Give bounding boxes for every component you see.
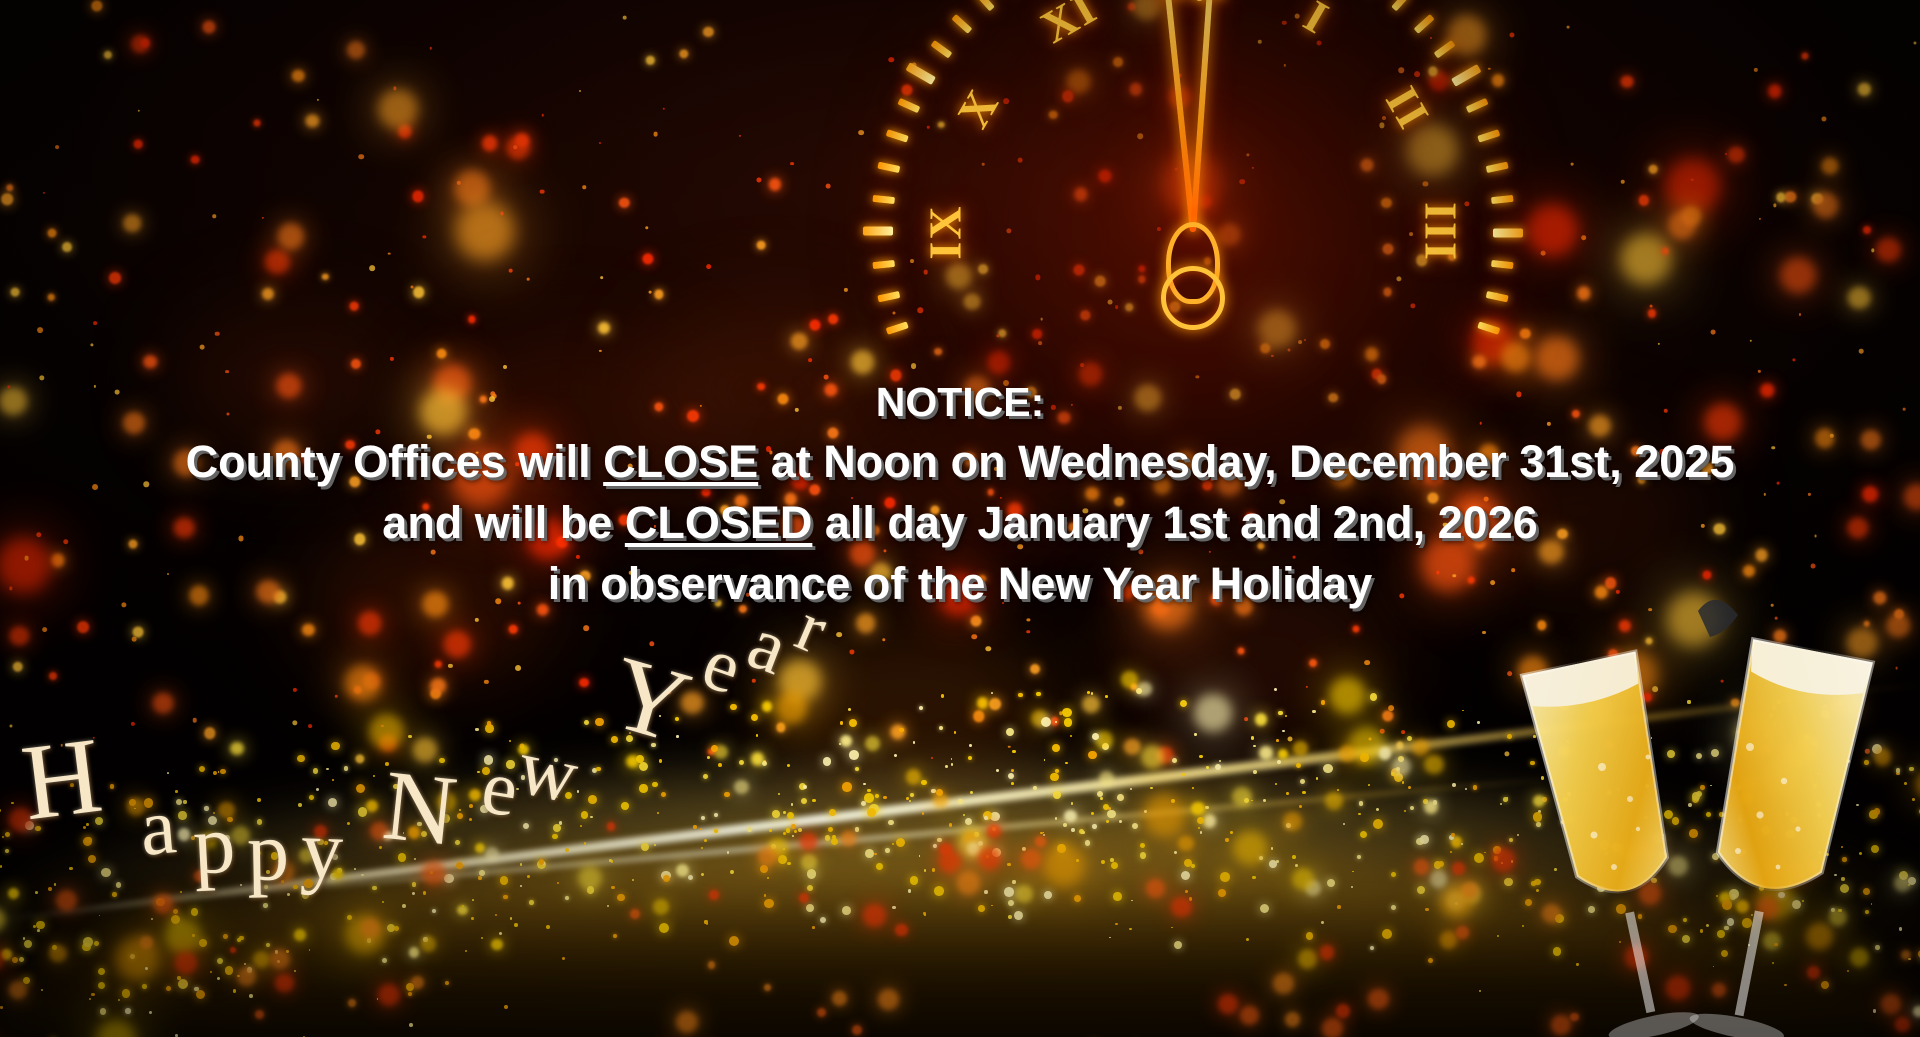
bokeh-dot xyxy=(1775,617,1778,620)
bokeh-dot xyxy=(870,526,879,535)
bokeh-dot xyxy=(642,254,653,265)
bokeh-dot xyxy=(1,194,13,206)
bokeh-dot xyxy=(1904,484,1920,510)
bokeh-dot xyxy=(1903,408,1906,411)
bokeh-dot xyxy=(1754,68,1758,72)
bokeh-dot xyxy=(1309,660,1317,668)
bokeh-dot xyxy=(1806,656,1815,665)
bokeh-dot xyxy=(649,291,652,294)
bokeh-dot xyxy=(1464,201,1469,206)
bokeh-dot xyxy=(1082,695,1100,713)
bokeh-dot xyxy=(429,47,431,49)
bokeh-dot xyxy=(629,570,634,575)
bokeh-dot xyxy=(923,270,928,275)
bokeh-dot xyxy=(455,202,514,261)
bokeh-dot xyxy=(1777,481,1780,484)
bokeh-dot xyxy=(215,331,220,336)
bokeh-dot xyxy=(1026,387,1037,398)
bokeh-dot xyxy=(1779,747,1799,767)
bokeh-dot xyxy=(174,517,194,537)
bokeh-dot xyxy=(1000,497,1002,499)
bokeh-dot xyxy=(278,477,281,480)
bokeh-dot xyxy=(332,472,335,475)
bokeh-dot xyxy=(1423,182,1428,187)
bokeh-dot xyxy=(576,555,580,559)
bokeh-dot xyxy=(1244,717,1248,721)
bokeh-dot xyxy=(317,98,319,100)
bokeh-dot xyxy=(883,549,886,552)
bokeh-dot xyxy=(1377,374,1387,384)
bokeh-dot xyxy=(24,556,29,561)
bokeh-dot xyxy=(1847,517,1868,538)
bokeh-dot xyxy=(1306,686,1308,688)
bokeh-dot xyxy=(1479,444,1499,464)
bokeh-dot xyxy=(1768,85,1781,98)
bokeh-dot xyxy=(580,571,591,582)
bokeh-dot xyxy=(1157,747,1174,764)
bokeh-dot xyxy=(1518,656,1548,686)
bokeh-dot xyxy=(1490,580,1496,586)
bokeh-dot xyxy=(739,135,741,137)
bokeh-dot xyxy=(843,288,847,292)
bokeh-dot xyxy=(1701,462,1713,474)
bokeh-dot xyxy=(121,603,126,608)
bokeh-dot xyxy=(1863,226,1871,234)
bokeh-dot xyxy=(110,272,122,284)
bokeh-dot xyxy=(910,259,914,263)
bokeh-dot xyxy=(90,344,93,347)
bokeh-dot xyxy=(1725,153,1727,155)
bokeh-dot xyxy=(378,89,418,129)
bokeh-dot xyxy=(1317,41,1322,46)
bokeh-dot xyxy=(452,448,511,507)
bokeh-dot xyxy=(1157,226,1161,230)
bokeh-dot xyxy=(1210,592,1223,605)
bokeh-dot xyxy=(792,473,809,490)
bokeh-dot xyxy=(1382,116,1386,120)
bokeh-dot xyxy=(914,396,917,399)
bokeh-dot xyxy=(369,265,375,271)
bokeh-dot xyxy=(890,724,905,739)
bokeh-dot xyxy=(645,226,648,229)
bokeh-dot xyxy=(988,351,1010,373)
bokeh-dot xyxy=(1353,625,1360,632)
bokeh-dot xyxy=(1130,83,1142,95)
bokeh-dot xyxy=(934,348,942,356)
bokeh-dot xyxy=(902,84,913,95)
bokeh-dot xyxy=(1776,193,1785,202)
bokeh-dot xyxy=(62,242,72,252)
bokeh-dot xyxy=(579,678,589,688)
bokeh-dot xyxy=(138,109,140,111)
bokeh-dot xyxy=(436,348,447,359)
bokeh-dot xyxy=(890,370,901,381)
bokeh-dot xyxy=(225,370,229,374)
bokeh-dot xyxy=(1287,736,1292,741)
bokeh-dot xyxy=(1701,523,1705,527)
bokeh-dot xyxy=(1535,336,1579,380)
bokeh-dot xyxy=(619,515,630,526)
bokeh-dot xyxy=(972,634,977,639)
bokeh-dot xyxy=(495,598,501,604)
bokeh-dot xyxy=(1871,249,1874,252)
bokeh-dot xyxy=(985,646,990,651)
bokeh-dot xyxy=(1202,480,1211,489)
bokeh-dot xyxy=(1799,313,1801,315)
bokeh-dot xyxy=(1668,212,1695,239)
bokeh-dot xyxy=(1199,528,1204,533)
bokeh-dot xyxy=(1298,340,1302,344)
bokeh-dot xyxy=(375,429,380,434)
bokeh-dot xyxy=(226,413,229,416)
bokeh-dot xyxy=(469,428,480,439)
bokeh-dot xyxy=(1815,428,1834,447)
bokeh-dot xyxy=(1763,745,1772,754)
bokeh-dot xyxy=(253,120,260,127)
bokeh-dot xyxy=(1008,746,1011,749)
bokeh-dot xyxy=(720,505,730,515)
bokeh-dot xyxy=(265,250,289,274)
bokeh-dot xyxy=(849,649,854,654)
bokeh-dot xyxy=(1138,549,1143,554)
bokeh-dot xyxy=(1032,329,1042,339)
bokeh-dot xyxy=(1771,446,1775,450)
bokeh-dot xyxy=(454,170,490,206)
bokeh-dot xyxy=(1639,195,1649,205)
bokeh-dot xyxy=(1810,563,1815,568)
bokeh-dot xyxy=(1847,627,1877,657)
bokeh-dot xyxy=(1631,446,1641,456)
bokeh-dot xyxy=(1472,355,1486,369)
bokeh-dot xyxy=(1003,98,1009,104)
bokeh-dot xyxy=(1138,276,1145,283)
bokeh-dot xyxy=(1537,621,1546,630)
bokeh-dot xyxy=(193,718,198,723)
bokeh-dot xyxy=(355,754,364,763)
bokeh-dot xyxy=(379,735,396,752)
bokeh-dot xyxy=(1511,568,1515,572)
bokeh-dot xyxy=(1208,551,1210,553)
bokeh-dot xyxy=(1772,705,1777,710)
bokeh-dot xyxy=(1083,508,1088,513)
bokeh-dot xyxy=(1218,223,1241,246)
bokeh-dot xyxy=(518,602,521,605)
bokeh-dot xyxy=(1606,741,1614,749)
bokeh-dot xyxy=(1660,449,1666,455)
bokeh-particles-top xyxy=(0,0,1920,1037)
bokeh-dot xyxy=(978,575,986,583)
bokeh-dot xyxy=(503,365,507,369)
bokeh-dot xyxy=(292,70,304,82)
bokeh-dot xyxy=(1204,258,1212,266)
bokeh-dot xyxy=(1065,522,1068,525)
bokeh-dot xyxy=(1210,478,1214,482)
bokeh-dot xyxy=(1570,163,1573,166)
bokeh-dot xyxy=(1588,415,1610,437)
bokeh-dot xyxy=(1765,734,1769,738)
bokeh-dot xyxy=(141,38,150,47)
bokeh-dot xyxy=(515,665,521,671)
bokeh-dot xyxy=(1863,620,1870,627)
bokeh-dot xyxy=(1653,686,1659,692)
bokeh-dot xyxy=(1364,660,1370,666)
bokeh-dot xyxy=(791,333,808,350)
bokeh-dot xyxy=(1539,540,1563,564)
bokeh-dot xyxy=(238,536,243,541)
bokeh-dot xyxy=(1125,303,1133,311)
bokeh-dot xyxy=(769,451,772,454)
bokeh-dot xyxy=(1062,91,1073,102)
bokeh-dot xyxy=(1567,26,1570,29)
bokeh-dot xyxy=(1331,463,1355,487)
bokeh-dot xyxy=(777,393,788,404)
bokeh-dot xyxy=(92,484,98,490)
bokeh-dot xyxy=(1771,604,1774,607)
bokeh-dot xyxy=(1361,159,1374,172)
bokeh-dot xyxy=(345,440,355,450)
bokeh-dot xyxy=(809,484,821,496)
bokeh-dot xyxy=(808,358,812,362)
bokeh-dot xyxy=(388,252,391,255)
bokeh-dot xyxy=(273,440,300,467)
bokeh-dot xyxy=(1379,123,1384,128)
bokeh-dot xyxy=(1887,614,1910,637)
bokeh-dot xyxy=(513,145,517,149)
bokeh-dot xyxy=(1427,492,1438,503)
bokeh-dot xyxy=(931,757,933,759)
bokeh-dot xyxy=(1295,14,1300,19)
bokeh-dot xyxy=(1421,537,1475,591)
bokeh-dot xyxy=(104,51,112,59)
bokeh-dot xyxy=(358,154,364,160)
bokeh-dot xyxy=(769,178,781,190)
bokeh-dot xyxy=(1501,342,1531,372)
bokeh-dot xyxy=(963,453,975,465)
bokeh-dot xyxy=(1399,593,1404,598)
bokeh-dot xyxy=(1162,154,1221,213)
bokeh-dot xyxy=(964,376,990,402)
bokeh-dot xyxy=(1068,523,1077,532)
bokeh-dot xyxy=(1443,522,1448,527)
bokeh-dot xyxy=(42,627,48,633)
bokeh-dot xyxy=(1822,158,1839,175)
bokeh-dot xyxy=(828,314,838,324)
bokeh-dot xyxy=(1728,146,1745,163)
bokeh-dot xyxy=(1382,243,1393,254)
bokeh-dot xyxy=(0,538,51,592)
bokeh-dot xyxy=(1650,305,1653,308)
bokeh-dot xyxy=(856,614,876,634)
bokeh-dot xyxy=(1861,429,1881,449)
bokeh-dot xyxy=(277,373,302,398)
bokeh-dot xyxy=(1388,705,1394,711)
bokeh-dot xyxy=(204,728,215,739)
bokeh-dot xyxy=(1154,478,1171,495)
bokeh-dot xyxy=(520,744,525,749)
bokeh-dot xyxy=(1051,717,1059,725)
bokeh-dot xyxy=(912,63,917,68)
bokeh-dot xyxy=(435,661,442,668)
bokeh-dot xyxy=(1422,462,1444,484)
bokeh-dot xyxy=(1830,701,1841,712)
bokeh-dot xyxy=(1759,218,1761,220)
bokeh-dot xyxy=(1382,710,1393,721)
bokeh-dot xyxy=(1003,380,1009,386)
bokeh-dot xyxy=(687,410,699,422)
bokeh-dot xyxy=(1714,523,1725,534)
bokeh-dot xyxy=(1397,742,1404,749)
bokeh-dot xyxy=(1257,542,1264,549)
bokeh-dot xyxy=(1304,339,1306,341)
bokeh-dot xyxy=(153,693,174,714)
bokeh-dot xyxy=(1749,340,1751,342)
bokeh-dot xyxy=(663,107,665,109)
bokeh-dot xyxy=(6,184,13,191)
bokeh-dot xyxy=(302,456,311,465)
bokeh-dot xyxy=(61,744,64,747)
bokeh-dot xyxy=(1118,406,1122,410)
bokeh-dot xyxy=(1526,205,1578,257)
bokeh-dot xyxy=(475,618,479,622)
bokeh-dot xyxy=(1114,497,1124,507)
bokeh-dot xyxy=(1664,408,1669,413)
bokeh-dot xyxy=(347,41,365,59)
bokeh-dot xyxy=(10,626,29,645)
bokeh-dot xyxy=(757,383,765,391)
bokeh-dot xyxy=(514,433,552,471)
bokeh-dot xyxy=(1380,729,1385,734)
bokeh-dot xyxy=(413,287,424,298)
bokeh-dot xyxy=(1235,597,1254,616)
bokeh-dot xyxy=(1801,52,1808,59)
bokeh-dot xyxy=(1071,404,1073,406)
bokeh-dot xyxy=(600,276,604,280)
bokeh-dot xyxy=(1035,275,1040,280)
bokeh-dot xyxy=(167,573,169,575)
bokeh-dot xyxy=(1282,21,1286,25)
bokeh-dot xyxy=(1058,411,1071,424)
bokeh-dot xyxy=(420,389,466,435)
bokeh-dot xyxy=(889,57,894,62)
bokeh-dot xyxy=(351,359,361,369)
bokeh-dot xyxy=(1196,375,1199,378)
bokeh-dot xyxy=(132,637,137,642)
bokeh-dot xyxy=(350,302,359,311)
bokeh-dot xyxy=(599,350,601,352)
bokeh-dot xyxy=(653,132,658,137)
bokeh-dot xyxy=(1245,512,1254,521)
bokeh-dot xyxy=(1482,631,1486,635)
bokeh-dot xyxy=(706,264,712,270)
bokeh-dot xyxy=(508,268,513,273)
bokeh-dot xyxy=(1504,751,1509,756)
bokeh-dot xyxy=(1773,204,1776,207)
bokeh-dot xyxy=(335,695,337,697)
bokeh-dot xyxy=(78,621,90,633)
bokeh-dot xyxy=(1124,739,1141,756)
bokeh-dot xyxy=(427,435,432,440)
bokeh-dot xyxy=(599,142,601,144)
bokeh-dot xyxy=(1773,630,1786,643)
bokeh-dot xyxy=(322,274,328,280)
bokeh-dot xyxy=(1230,389,1241,400)
bokeh-dot xyxy=(1616,590,1620,594)
bokeh-dot xyxy=(1416,255,1427,266)
bokeh-dot xyxy=(988,489,995,496)
bokeh-dot xyxy=(1007,503,1022,518)
bokeh-dot xyxy=(129,539,138,548)
bokeh-dot xyxy=(851,497,853,499)
bokeh-dot xyxy=(756,177,761,182)
bokeh-dot xyxy=(654,402,663,411)
bokeh-dot xyxy=(1703,571,1712,580)
bokeh-dot xyxy=(734,495,747,508)
bokeh-dot xyxy=(134,140,143,149)
bokeh-dot xyxy=(1813,193,1838,218)
bokeh-dot xyxy=(1237,648,1244,655)
bokeh-dot xyxy=(444,631,471,658)
bokeh-dot xyxy=(448,664,452,668)
bokeh-dot xyxy=(212,214,215,217)
bokeh-dot xyxy=(931,505,940,514)
bokeh-dot xyxy=(190,586,209,605)
bokeh-dot xyxy=(1085,487,1099,501)
bokeh-dot xyxy=(1895,667,1898,670)
bokeh-dot xyxy=(679,49,688,58)
bokeh-dot xyxy=(1329,393,1339,403)
bokeh-dot xyxy=(1287,348,1290,351)
bokeh-dot xyxy=(540,189,545,194)
bokeh-dot xyxy=(779,659,822,702)
bokeh-dot xyxy=(963,293,980,310)
bokeh-dot xyxy=(1661,248,1668,255)
bokeh-dot xyxy=(1134,384,1161,411)
bokeh-dot xyxy=(1137,133,1143,139)
bokeh-dot xyxy=(124,214,142,232)
bokeh-dot xyxy=(302,624,314,636)
bokeh-dot xyxy=(1516,517,1525,526)
bokeh-dot xyxy=(1621,180,1626,185)
bokeh-dot xyxy=(1651,459,1656,464)
bokeh-dot xyxy=(1479,422,1482,425)
bokeh-dot xyxy=(1414,71,1420,77)
bokeh-dot xyxy=(1520,328,1531,339)
bokeh-dot xyxy=(1621,75,1634,88)
bokeh-dot xyxy=(1170,35,1175,40)
bokeh-dot xyxy=(622,15,627,20)
bokeh-dot xyxy=(583,185,586,188)
bokeh-dot xyxy=(1406,124,1457,175)
bokeh-dot xyxy=(1637,475,1645,483)
bokeh-dot xyxy=(1040,318,1043,321)
bokeh-dot xyxy=(1510,32,1515,37)
bokeh-dot xyxy=(826,183,831,188)
bokeh-dot xyxy=(1066,69,1091,94)
bokeh-dot xyxy=(824,383,837,396)
bokeh-dot xyxy=(1620,233,1671,284)
bokeh-dot xyxy=(47,229,56,238)
bokeh-dot xyxy=(937,574,979,616)
bokeh-dot xyxy=(646,56,654,64)
bokeh-dot xyxy=(982,163,985,166)
bokeh-dot xyxy=(1743,565,1755,577)
bokeh-dot xyxy=(1764,493,1766,495)
bokeh-dot xyxy=(1721,680,1724,683)
new-year-notice-banner: XIIIIIIIIXIXIX HappyNewYear xyxy=(0,0,1920,1037)
bokeh-dot xyxy=(989,698,1001,710)
bokeh-dot xyxy=(783,515,806,538)
bokeh-dot xyxy=(882,638,885,641)
